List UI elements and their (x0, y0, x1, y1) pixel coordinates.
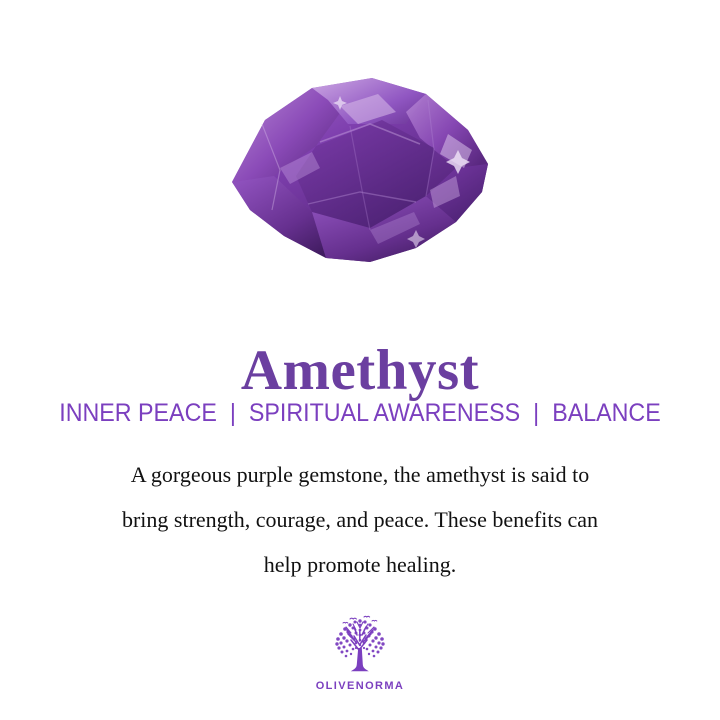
amethyst-info-card: Amethyst INNER PEACE | SPIRITUAL AWARENE… (0, 0, 720, 720)
keyword-balance: BALANCE (552, 399, 661, 427)
amethyst-crystal-image (220, 72, 500, 272)
keyword-list: INNER PEACE | SPIRITUAL AWARENESS | BALA… (25, 398, 695, 428)
brand-logo: OLIVENORMA (0, 614, 720, 692)
keyword-spiritual-awareness: SPIRITUAL AWARENESS (249, 399, 520, 427)
keyword-separator: | (527, 398, 546, 428)
description-line: help promote healing. (50, 542, 670, 587)
keyword-inner-peace: INNER PEACE (59, 399, 217, 427)
brand-name: OLIVENORMA (0, 680, 720, 692)
page-title: Amethyst (0, 341, 720, 401)
tree-of-life-icon (326, 614, 394, 676)
description-line: bring strength, courage, and peace. Thes… (50, 497, 670, 542)
gemstone-image-container (0, 72, 720, 277)
keyword-separator: | (223, 398, 242, 428)
description-line: A gorgeous purple gemstone, the amethyst… (50, 452, 670, 497)
description-text: A gorgeous purple gemstone, the amethyst… (50, 452, 670, 587)
